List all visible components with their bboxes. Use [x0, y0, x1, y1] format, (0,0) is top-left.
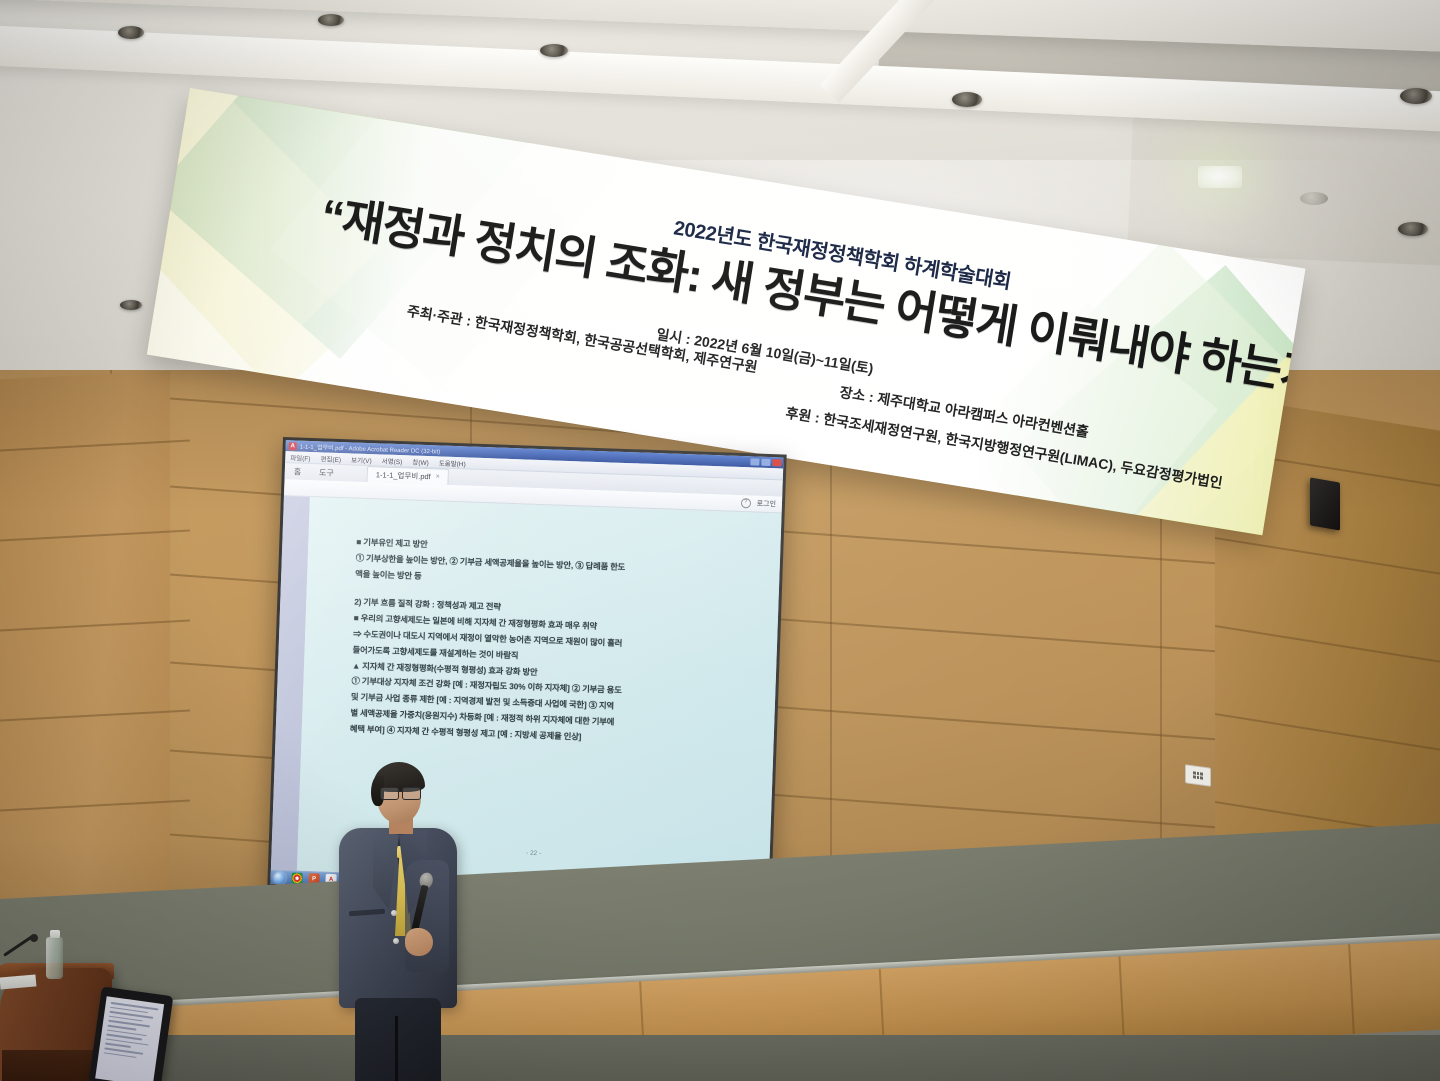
menu-item-sign[interactable]: 서명(S) — [382, 455, 403, 466]
presenter-trousers — [355, 998, 441, 1081]
acrobat-logo-icon: A — [289, 442, 297, 450]
sign-in-button[interactable]: 로그인 — [756, 499, 776, 510]
maximize-icon[interactable] — [761, 459, 770, 466]
menu-item-view[interactable]: 보기(V) — [351, 454, 372, 465]
downlight-icon — [118, 26, 144, 39]
presenter — [333, 760, 463, 1081]
conference-hall-photo: 2022년도 한국재정정책학회 하계학술대회 “재정과 정치의 조화: 새 정부… — [0, 0, 1440, 1081]
mic-head-icon — [30, 934, 38, 942]
downlight-icon — [318, 14, 344, 26]
tab-home[interactable]: 홈 — [285, 464, 311, 480]
close-icon[interactable] — [772, 459, 781, 466]
monitor-screen — [95, 996, 164, 1081]
slide-content: ■ 기부유인 제고 방안 ① 기부상한을 높이는 방안, ② 기부금 세액공제율… — [350, 535, 767, 752]
downlight-icon — [120, 300, 142, 310]
wall-speaker-icon — [1310, 477, 1340, 530]
minimize-icon[interactable] — [750, 458, 759, 465]
start-button[interactable] — [273, 871, 285, 883]
menu-item-edit[interactable]: 편집(E) — [320, 453, 341, 464]
menu-item-file[interactable]: 파일(F) — [290, 452, 311, 463]
house-floor — [0, 1035, 1440, 1081]
gooseneck-microphone — [4, 930, 38, 972]
switch-buttons-icon — [1192, 771, 1203, 780]
menu-item-help[interactable]: 도움말(H) — [439, 457, 466, 468]
window-controls[interactable] — [750, 458, 783, 466]
light-switch-panel[interactable] — [1185, 764, 1211, 787]
downlight-icon — [1400, 88, 1432, 104]
glasses-icon — [380, 787, 424, 799]
downlight-icon — [952, 92, 982, 107]
close-tab-icon[interactable]: × — [436, 473, 440, 480]
trouser-seam — [395, 1016, 398, 1081]
tab-tools[interactable]: 도구 — [310, 465, 343, 481]
jacket-button-icon — [391, 910, 397, 916]
downlight-icon — [540, 44, 568, 57]
document-tab-label: 1-1-1_업무비.pdf — [376, 469, 431, 482]
water-bottle — [46, 937, 63, 979]
jacket-button-icon — [393, 938, 399, 944]
bottle-cap-icon — [50, 930, 60, 938]
presenter-hand — [405, 928, 433, 956]
confidence-monitor — [89, 986, 174, 1081]
menu-item-window[interactable]: 창(W) — [412, 456, 429, 467]
help-icon[interactable]: ? — [740, 498, 750, 508]
